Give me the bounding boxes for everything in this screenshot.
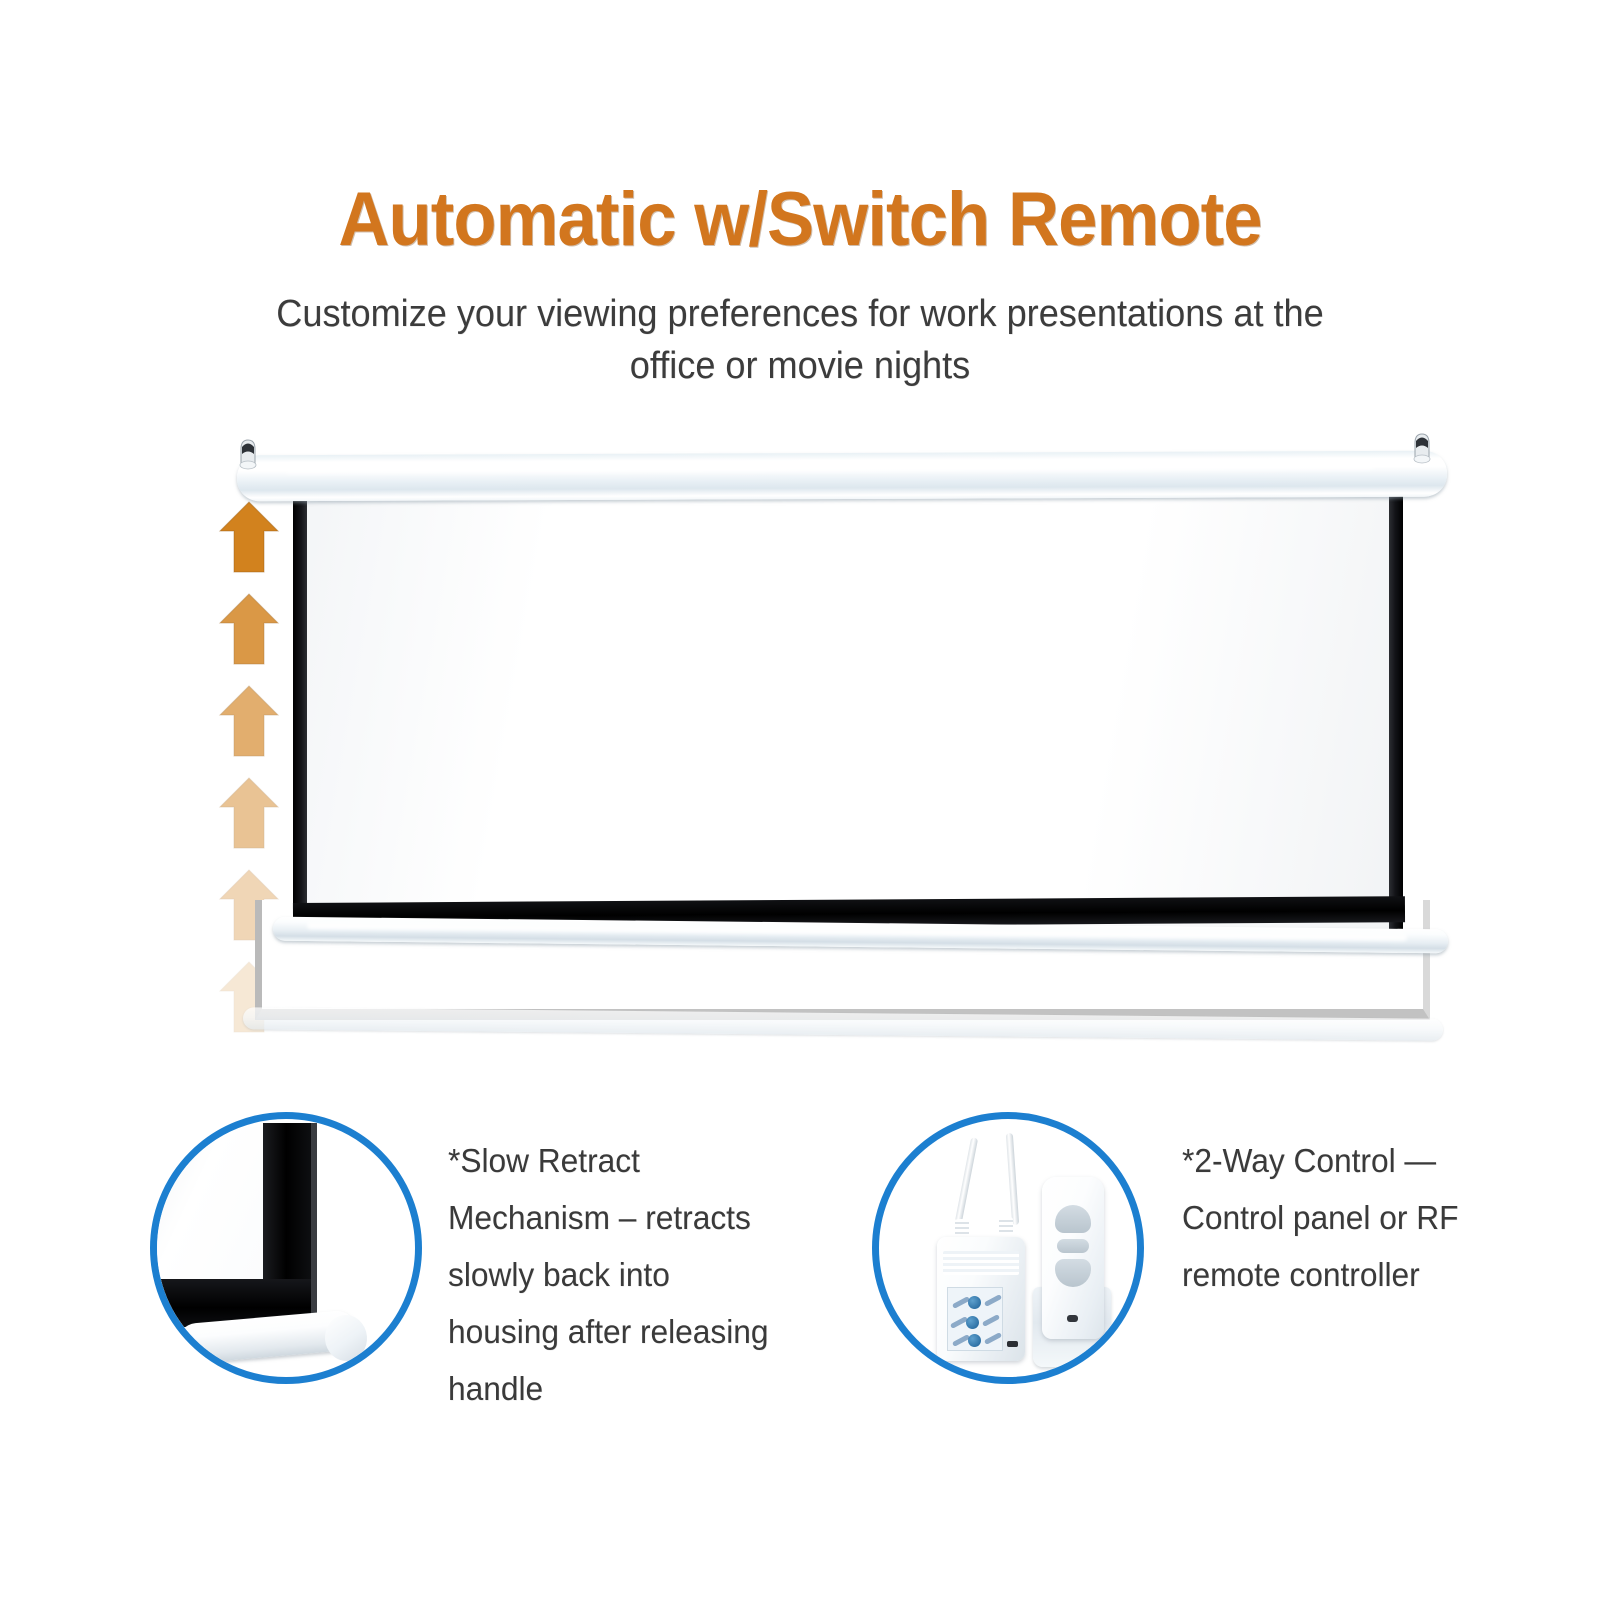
label-streak: [984, 1332, 1002, 1345]
screen-corner-white: [157, 1127, 263, 1283]
page-subtitle: Customize your viewing preferences for w…: [230, 288, 1370, 392]
cable-grommet: [955, 1219, 969, 1237]
callout-left-artwork: [157, 1119, 415, 1377]
pull-handle-cap: [323, 1313, 369, 1362]
callout-slow-retract-text: *Slow Retract Mechanism – retracts slowl…: [448, 1132, 774, 1417]
screen-masking-border-left: [293, 491, 307, 935]
label-mark: [966, 1316, 979, 1329]
page-title: Automatic w/Switch Remote: [56, 176, 1544, 263]
callout-right-artwork: [879, 1119, 1137, 1377]
label-streak: [982, 1314, 1000, 1327]
screen-masking-border-right: [1389, 487, 1403, 935]
projection-surface: [293, 493, 1403, 933]
cable-grommet: [999, 1217, 1013, 1235]
control-panel-label: [947, 1287, 1003, 1351]
label-mark: [968, 1296, 981, 1309]
remote-stop-button: [1057, 1239, 1089, 1253]
mounting-bracket-icon: [1409, 431, 1435, 465]
screen-edge: [311, 1123, 317, 1327]
control-cable: [1006, 1133, 1019, 1225]
control-panel-vents: [943, 1251, 1019, 1275]
projector-screen-assembly: [215, 425, 1465, 1065]
callout-two-way-control-text: *2-Way Control —Control panel or RF remo…: [1182, 1132, 1480, 1303]
roller-housing: [237, 451, 1447, 502]
header: Automatic w/Switch Remote Customize your…: [0, 0, 1600, 400]
control-panel-led: [1007, 1341, 1018, 1347]
remote-ir-led: [1067, 1315, 1078, 1322]
mounting-bracket-icon: [235, 437, 261, 471]
control-cable: [955, 1137, 978, 1223]
label-streak: [984, 1294, 1002, 1307]
callout-two-way-control-image: [872, 1112, 1144, 1384]
remote-up-button: [1055, 1205, 1091, 1233]
label-mark: [968, 1334, 981, 1347]
callout-slow-retract-image: [150, 1112, 422, 1384]
